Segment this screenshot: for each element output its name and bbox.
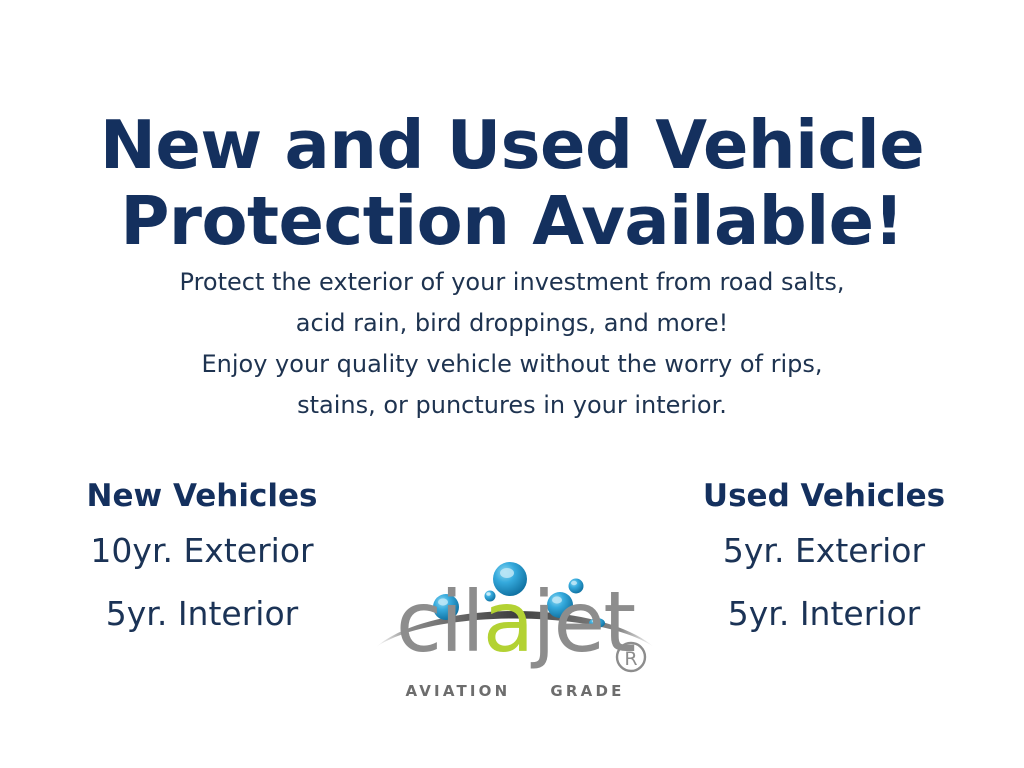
plan-title-used-vehicles: Used Vehicles: [644, 474, 1004, 519]
body-copy-line-3: Enjoy your quality vehicle without the w…: [0, 344, 1024, 385]
plan-column-used-vehicles: Used Vehicles 5yr. Exterior 5yr. Interio…: [644, 474, 1004, 645]
plan-title-new-vehicles: New Vehicles: [22, 474, 382, 519]
cilajet-logo: R cilajet AVIATIONGRADE: [370, 551, 660, 727]
plan-column-new-vehicles: New Vehicles 10yr. Exterior 5yr. Interio…: [22, 474, 382, 645]
page-title-line-2: Protection Available!: [0, 183, 1024, 259]
logo-tagline: AVIATIONGRADE: [370, 683, 660, 700]
plan-item-used-interior: 5yr. Interior: [644, 582, 1004, 645]
slide-canvas: New and Used Vehicle Protection Availabl…: [0, 0, 1024, 768]
logo-wordmark-prefix: cil: [396, 573, 483, 671]
page-title: New and Used Vehicle Protection Availabl…: [0, 107, 1024, 259]
plan-item-used-exterior: 5yr. Exterior: [644, 519, 1004, 582]
logo-wordmark-accent-letter: a: [483, 573, 532, 671]
logo-tagline-right: GRADE: [550, 682, 624, 700]
body-copy-line-1: Protect the exterior of your investment …: [0, 262, 1024, 303]
plan-item-new-exterior: 10yr. Exterior: [22, 519, 382, 582]
logo-wordmark-suffix: jet: [532, 573, 634, 671]
page-title-line-1: New and Used Vehicle: [0, 107, 1024, 183]
logo-wordmark: cilajet: [370, 580, 660, 664]
body-copy-line-2: acid rain, bird droppings, and more!: [0, 303, 1024, 344]
body-copy: Protect the exterior of your investment …: [0, 262, 1024, 426]
logo-tagline-left: AVIATION: [405, 682, 510, 700]
plan-item-new-interior: 5yr. Interior: [22, 582, 382, 645]
body-copy-line-4: stains, or punctures in your interior.: [0, 385, 1024, 426]
